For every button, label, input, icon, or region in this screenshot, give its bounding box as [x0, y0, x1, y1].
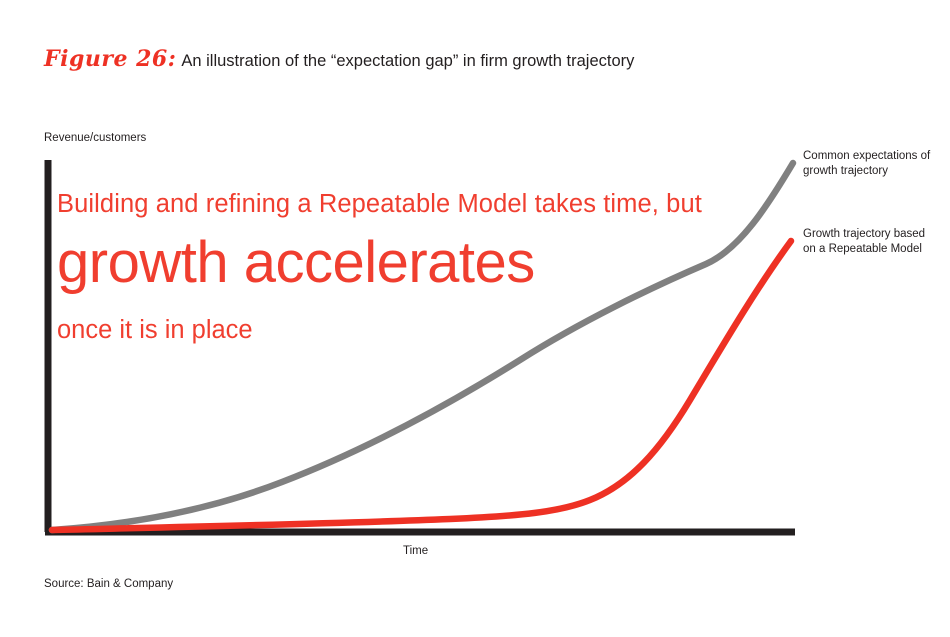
annotation-common-expectations: Common expectations of growth trajectory	[803, 149, 935, 179]
headline-line-1: Building and refining a Repeatable Model…	[57, 192, 757, 218]
annotation-repeatable-model: Growth trajectory based on a Repeatable …	[803, 227, 935, 257]
headline-line-3: once it is in place	[57, 318, 757, 344]
headline-overlay: Building and refining a Repeatable Model…	[57, 192, 757, 343]
source-note: Source: Bain & Company	[44, 578, 173, 590]
headline-line-2: growth accelerates	[57, 234, 757, 292]
